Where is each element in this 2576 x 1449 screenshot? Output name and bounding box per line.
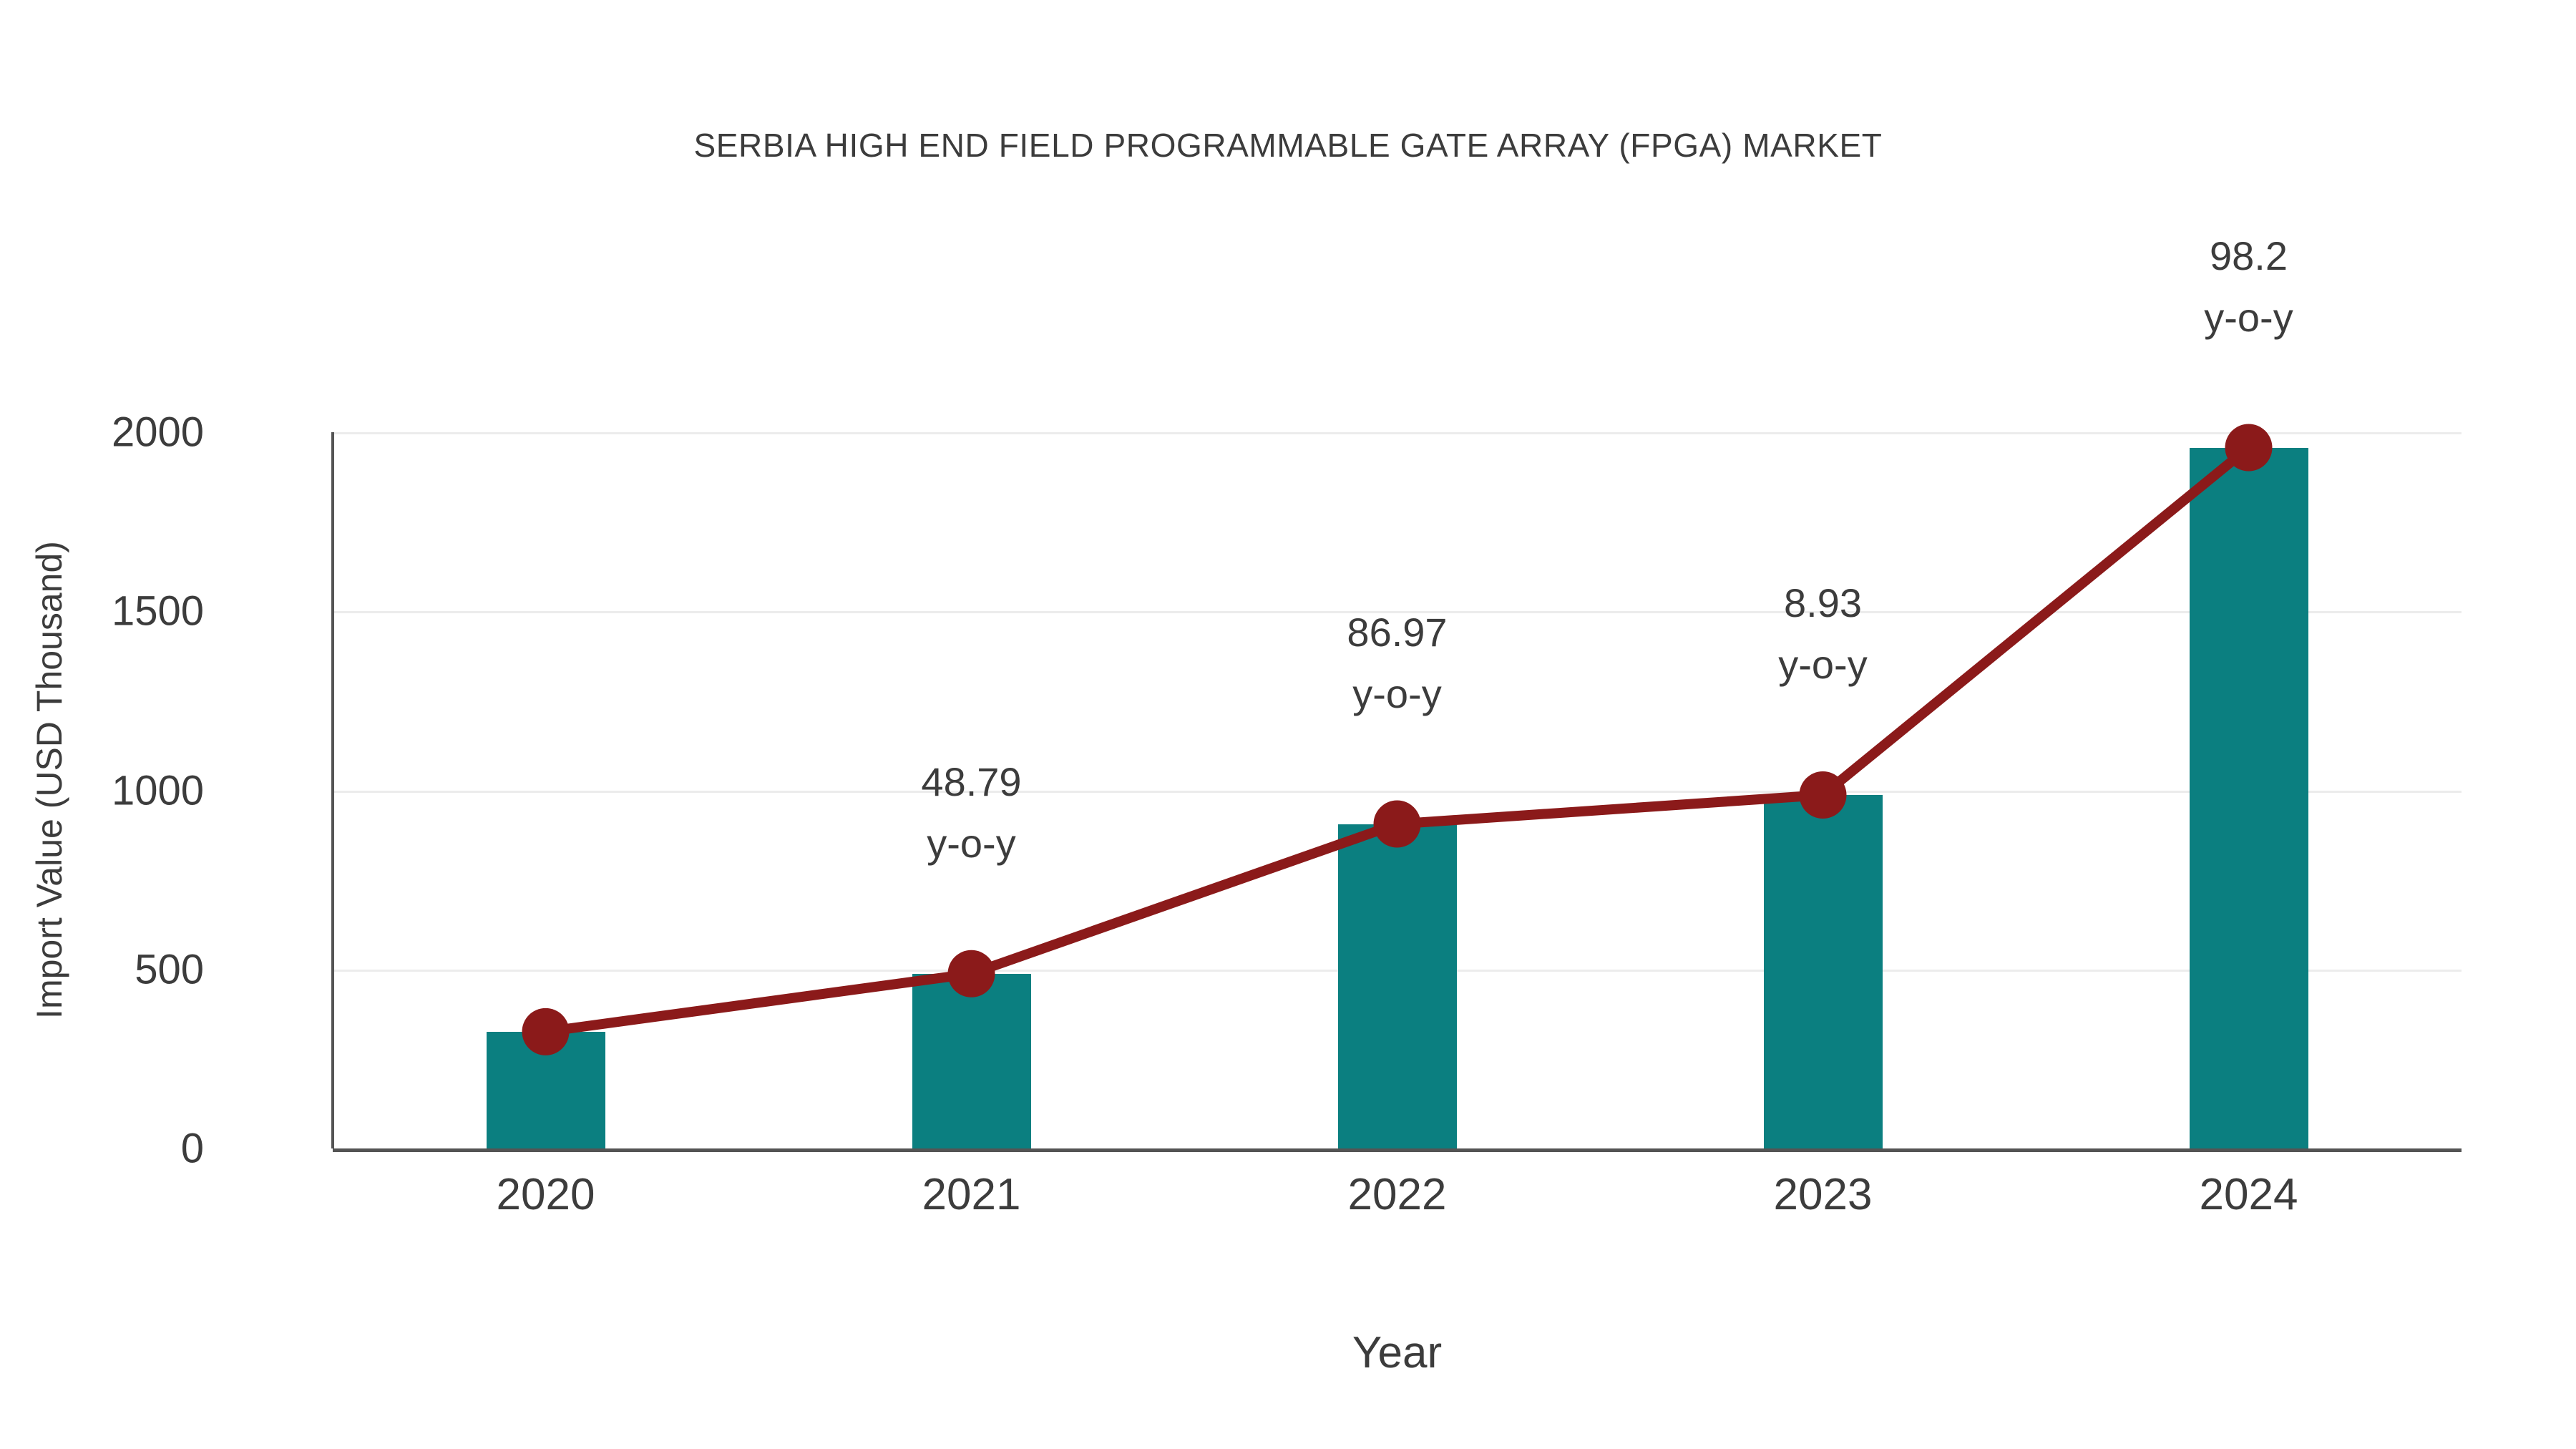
- y-axis-line: [331, 432, 334, 1148]
- y-axis-tick-label: 1000: [0, 766, 204, 814]
- yoy-suffix: y-o-y: [1659, 642, 1988, 688]
- yoy-value: 86.97: [1233, 610, 1562, 655]
- yoy-value: 8.93: [1659, 580, 1988, 626]
- y-axis-tick-label: 2000: [0, 409, 204, 457]
- x-axis-tick-label: 2024: [2106, 1169, 2392, 1220]
- x-axis-tick-label: 2023: [1680, 1169, 1966, 1220]
- line-series: [333, 432, 2462, 1148]
- yoy-marker: [1800, 771, 1847, 819]
- yoy-value: 48.79: [807, 759, 1136, 805]
- chart-figure: SERBIA HIGH END FIELD PROGRAMMABLE GATE …: [0, 0, 2576, 1449]
- x-axis-tick-label: 2020: [403, 1169, 689, 1220]
- yoy-marker: [948, 950, 995, 997]
- yoy-suffix: y-o-y: [2084, 295, 2414, 341]
- x-axis-line: [333, 1148, 2462, 1152]
- y-axis-tick-label: 1500: [0, 587, 204, 635]
- y-axis-tick-label: 500: [0, 945, 204, 993]
- x-axis-tick-label: 2021: [829, 1169, 1115, 1220]
- yoy-annotation: 8.93y-o-y: [1659, 580, 1988, 688]
- yoy-line-path: [546, 448, 2249, 1032]
- yoy-suffix: y-o-y: [1233, 671, 1562, 717]
- yoy-annotation: 86.97y-o-y: [1233, 610, 1562, 718]
- yoy-marker: [522, 1008, 570, 1055]
- yoy-annotation: 98.2y-o-y: [2084, 233, 2414, 341]
- yoy-suffix: y-o-y: [807, 821, 1136, 867]
- yoy-markers: [522, 424, 2273, 1055]
- x-axis-tick-label: 2022: [1254, 1169, 1541, 1220]
- x-axis-title: Year: [333, 1327, 2462, 1378]
- yoy-annotation: 48.79y-o-y: [807, 759, 1136, 867]
- y-axis-tick-label: 0: [0, 1125, 204, 1173]
- plot-area: 0500100015002000 20202021202220232024 48…: [333, 432, 2462, 1148]
- yoy-marker: [2225, 424, 2273, 472]
- yoy-value: 98.2: [2084, 233, 2414, 279]
- yoy-marker: [1374, 801, 1421, 848]
- chart-title: SERBIA HIGH END FIELD PROGRAMMABLE GATE …: [0, 126, 2576, 165]
